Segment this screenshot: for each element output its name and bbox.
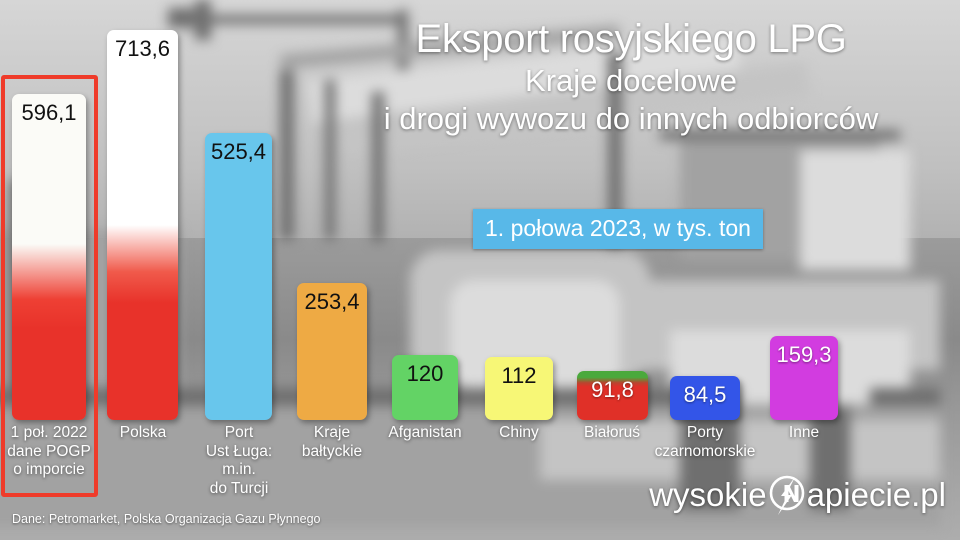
infographic-canvas: Eksport rosyjskiego LPG Kraje docelowe i… — [0, 0, 960, 540]
bar-value-label: 159,3 — [770, 342, 838, 368]
bar-value-label: 253,4 — [297, 289, 367, 315]
bar-polska[interactable]: 713,6 — [107, 30, 178, 420]
bar-value-label: 120 — [392, 361, 458, 387]
bar-1-pol-2022[interactable]: 596,1 — [12, 94, 86, 420]
bar-value-label: 112 — [485, 363, 553, 389]
bar-label-line: do Turcji — [196, 480, 282, 499]
logo-text-right: apiecie.pl — [807, 478, 946, 511]
bar-porty-czarnomorskie[interactable]: 84,5 — [670, 376, 740, 420]
bar-label-kraje-baltyckie: Kraje bałtyckie — [288, 424, 376, 461]
bar-bialorus[interactable]: 91,8 — [577, 371, 648, 420]
bar-label-port-ust-luga: Port Ust Ługa: m.in. do Turcji — [196, 424, 282, 498]
bar-value-label: 84,5 — [670, 382, 740, 408]
lightning-n-icon — [765, 472, 809, 516]
bar-afganistan[interactable]: 120 — [392, 355, 458, 420]
bar-label-inne: Inne — [762, 424, 846, 443]
source-note: Dane: Petromarket, Polska Organizacja Ga… — [12, 512, 321, 526]
bar-label-bialorus: Białoruś — [568, 424, 656, 443]
bar-label-line: Port — [196, 424, 282, 443]
bar-chiny[interactable]: 112 — [485, 357, 553, 420]
bar-label-line: Porty — [645, 424, 765, 443]
bar-inne[interactable]: 159,3 — [770, 336, 838, 420]
bar-label-line: Kraje — [288, 424, 376, 443]
bar-chart: 596,1 1 poł. 2022 dane POGP o imporcie 7… — [0, 0, 960, 540]
bar-value-label: 525,4 — [205, 139, 272, 165]
bar-value-label: 596,1 — [12, 100, 86, 126]
bar-label-line: Polska — [100, 424, 186, 443]
bar-label-line: o imporcie — [4, 461, 94, 480]
bar-label-line: dane POGP — [4, 443, 94, 462]
bar-label-line: Białoruś — [568, 424, 656, 443]
bar-label-line: czarnomorskie — [645, 443, 765, 462]
bar-label-line: 1 poł. 2022 — [4, 424, 94, 443]
logo-text-left: wysokie — [649, 478, 766, 511]
bar-label-line: Chiny — [477, 424, 561, 443]
bar-label-line: Afganistan — [373, 424, 477, 443]
bar-label-porty-czarnomorskie: Porty czarnomorskie — [645, 424, 765, 461]
bar-label-line: bałtyckie — [288, 443, 376, 462]
bar-label-afganistan: Afganistan — [373, 424, 477, 443]
site-logo[interactable]: wysokie apiecie.pl — [649, 472, 946, 516]
bar-value-label: 91,8 — [577, 377, 648, 403]
bar-label-polska: Polska — [100, 424, 186, 443]
bar-port-ust-luga[interactable]: 525,4 — [205, 133, 272, 420]
bar-label-line: m.in. — [196, 461, 282, 480]
bar-label-line: Ust Ługa: — [196, 443, 282, 462]
bar-kraje-baltyckie[interactable]: 253,4 — [297, 283, 367, 420]
bar-label-chiny: Chiny — [477, 424, 561, 443]
bar-value-label: 713,6 — [107, 36, 178, 62]
bar-label-line: Inne — [762, 424, 846, 443]
bar-label-1-pol-2022: 1 poł. 2022 dane POGP o imporcie — [4, 424, 94, 480]
